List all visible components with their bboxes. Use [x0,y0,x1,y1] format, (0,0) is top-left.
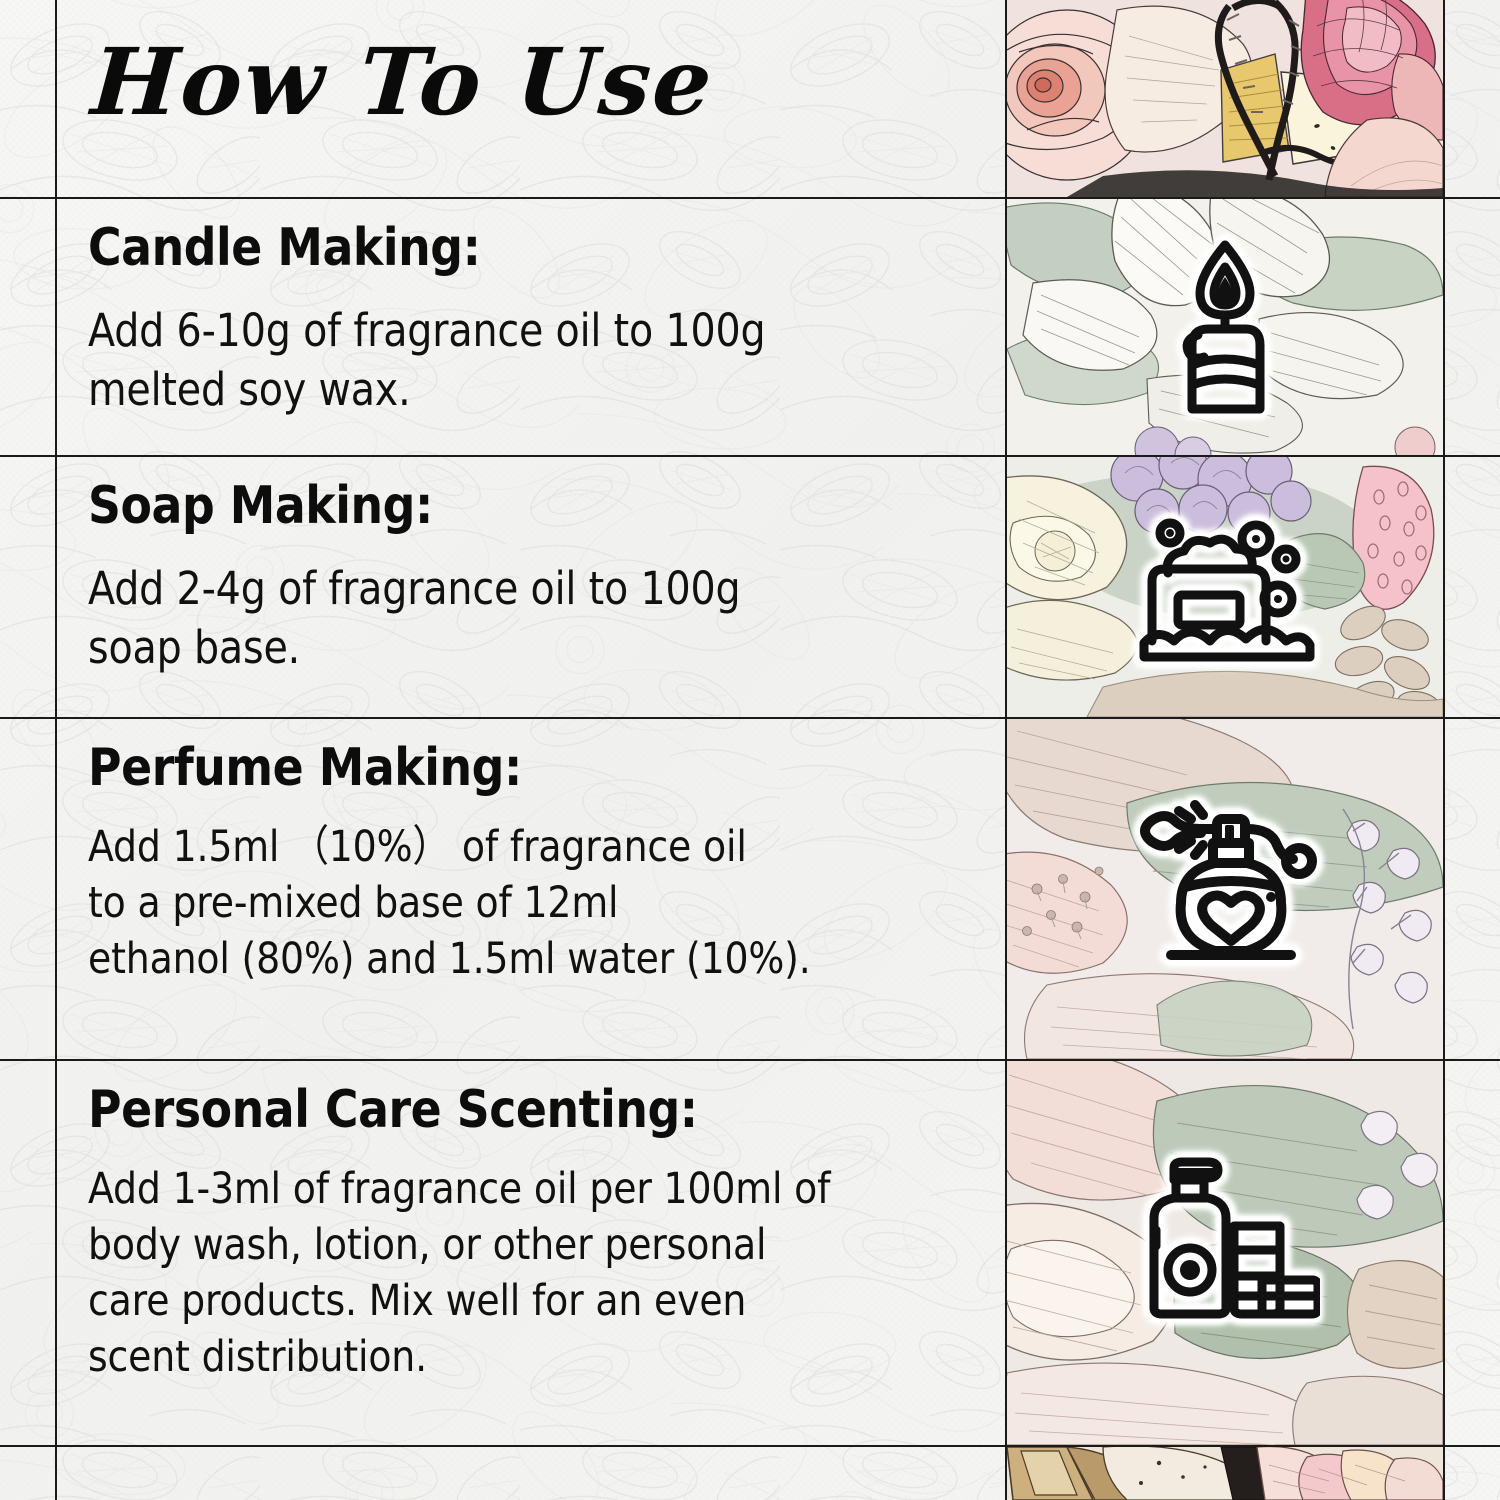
body-line: Add 1-3ml of fragrance oil per 100ml of [88,1162,830,1218]
how-to-use-infographic: How To Use Candle Making: Add 6-10g of f… [0,0,1500,1500]
title-block: How To Use [92,34,713,131]
section-heading: Candle Making: [88,222,766,274]
section-body: Add 2-4g of fragrance oil to 100g soap b… [88,560,740,677]
perfume-bottle-icon [1125,799,1325,979]
section-personal-care-scenting: Personal Care Scenting: Add 1-3ml of fra… [88,1084,931,1386]
image-roses-and-soap [1007,0,1443,197]
column-split-rule [1005,0,1007,1500]
section-body: Add 1-3ml of fragrance oil per 100ml of … [88,1162,830,1386]
section-body: Add 1.5ml （10%） of fragrance oil to a pr… [88,820,811,988]
page-title: How To Use [89,34,717,131]
image-perfume-panel [1007,719,1443,1059]
left-margin-rule [55,0,57,1500]
body-line: melted soy wax. [88,361,766,420]
section-heading: Soap Making: [88,480,740,532]
candle-icon [1164,229,1286,425]
body-line: ethanol (80%) and 1.5ml water (10%). [88,932,811,988]
image-soap-panel [1007,457,1443,717]
divider-perfume-bottom [0,1059,1500,1061]
body-line: body wash, lotion, or other personal [88,1218,830,1274]
divider-care-bottom [0,1445,1500,1447]
body-line: Add 6-10g of fragrance oil to 100g [88,302,766,361]
section-heading: Personal Care Scenting: [88,1084,830,1136]
body-line: Add 2-4g of fragrance oil to 100g [88,560,740,619]
image-personal-care-panel [1007,1061,1443,1445]
section-heading: Perfume Making: [88,742,811,794]
section-candle-making: Candle Making: Add 6-10g of fragrance oi… [88,222,858,419]
body-line: care products. Mix well for an even [88,1274,830,1330]
lotion-bottle-icon [1130,1154,1320,1322]
body-line: soap base. [88,619,740,678]
image-candle-panel [1007,199,1443,455]
section-body: Add 6-10g of fragrance oil to 100g melte… [88,302,766,419]
section-soap-making: Soap Making: Add 2-4g of fragrance oil t… [88,480,829,677]
divider-title-bottom [0,197,1500,199]
section-perfume-making: Perfume Making: Add 1.5ml （10%） of fragr… [88,742,909,988]
body-line: to a pre-mixed base of 12ml [88,876,811,932]
right-margin-rule [1443,0,1445,1500]
soap-bar-icon [1134,507,1316,667]
body-line: scent distribution. [88,1330,830,1386]
divider-candle-bottom [0,455,1500,457]
image-wood-and-blossom [1007,1447,1443,1500]
body-line: Add 1.5ml （10%） of fragrance oil [88,820,811,876]
divider-soap-bottom [0,717,1500,719]
